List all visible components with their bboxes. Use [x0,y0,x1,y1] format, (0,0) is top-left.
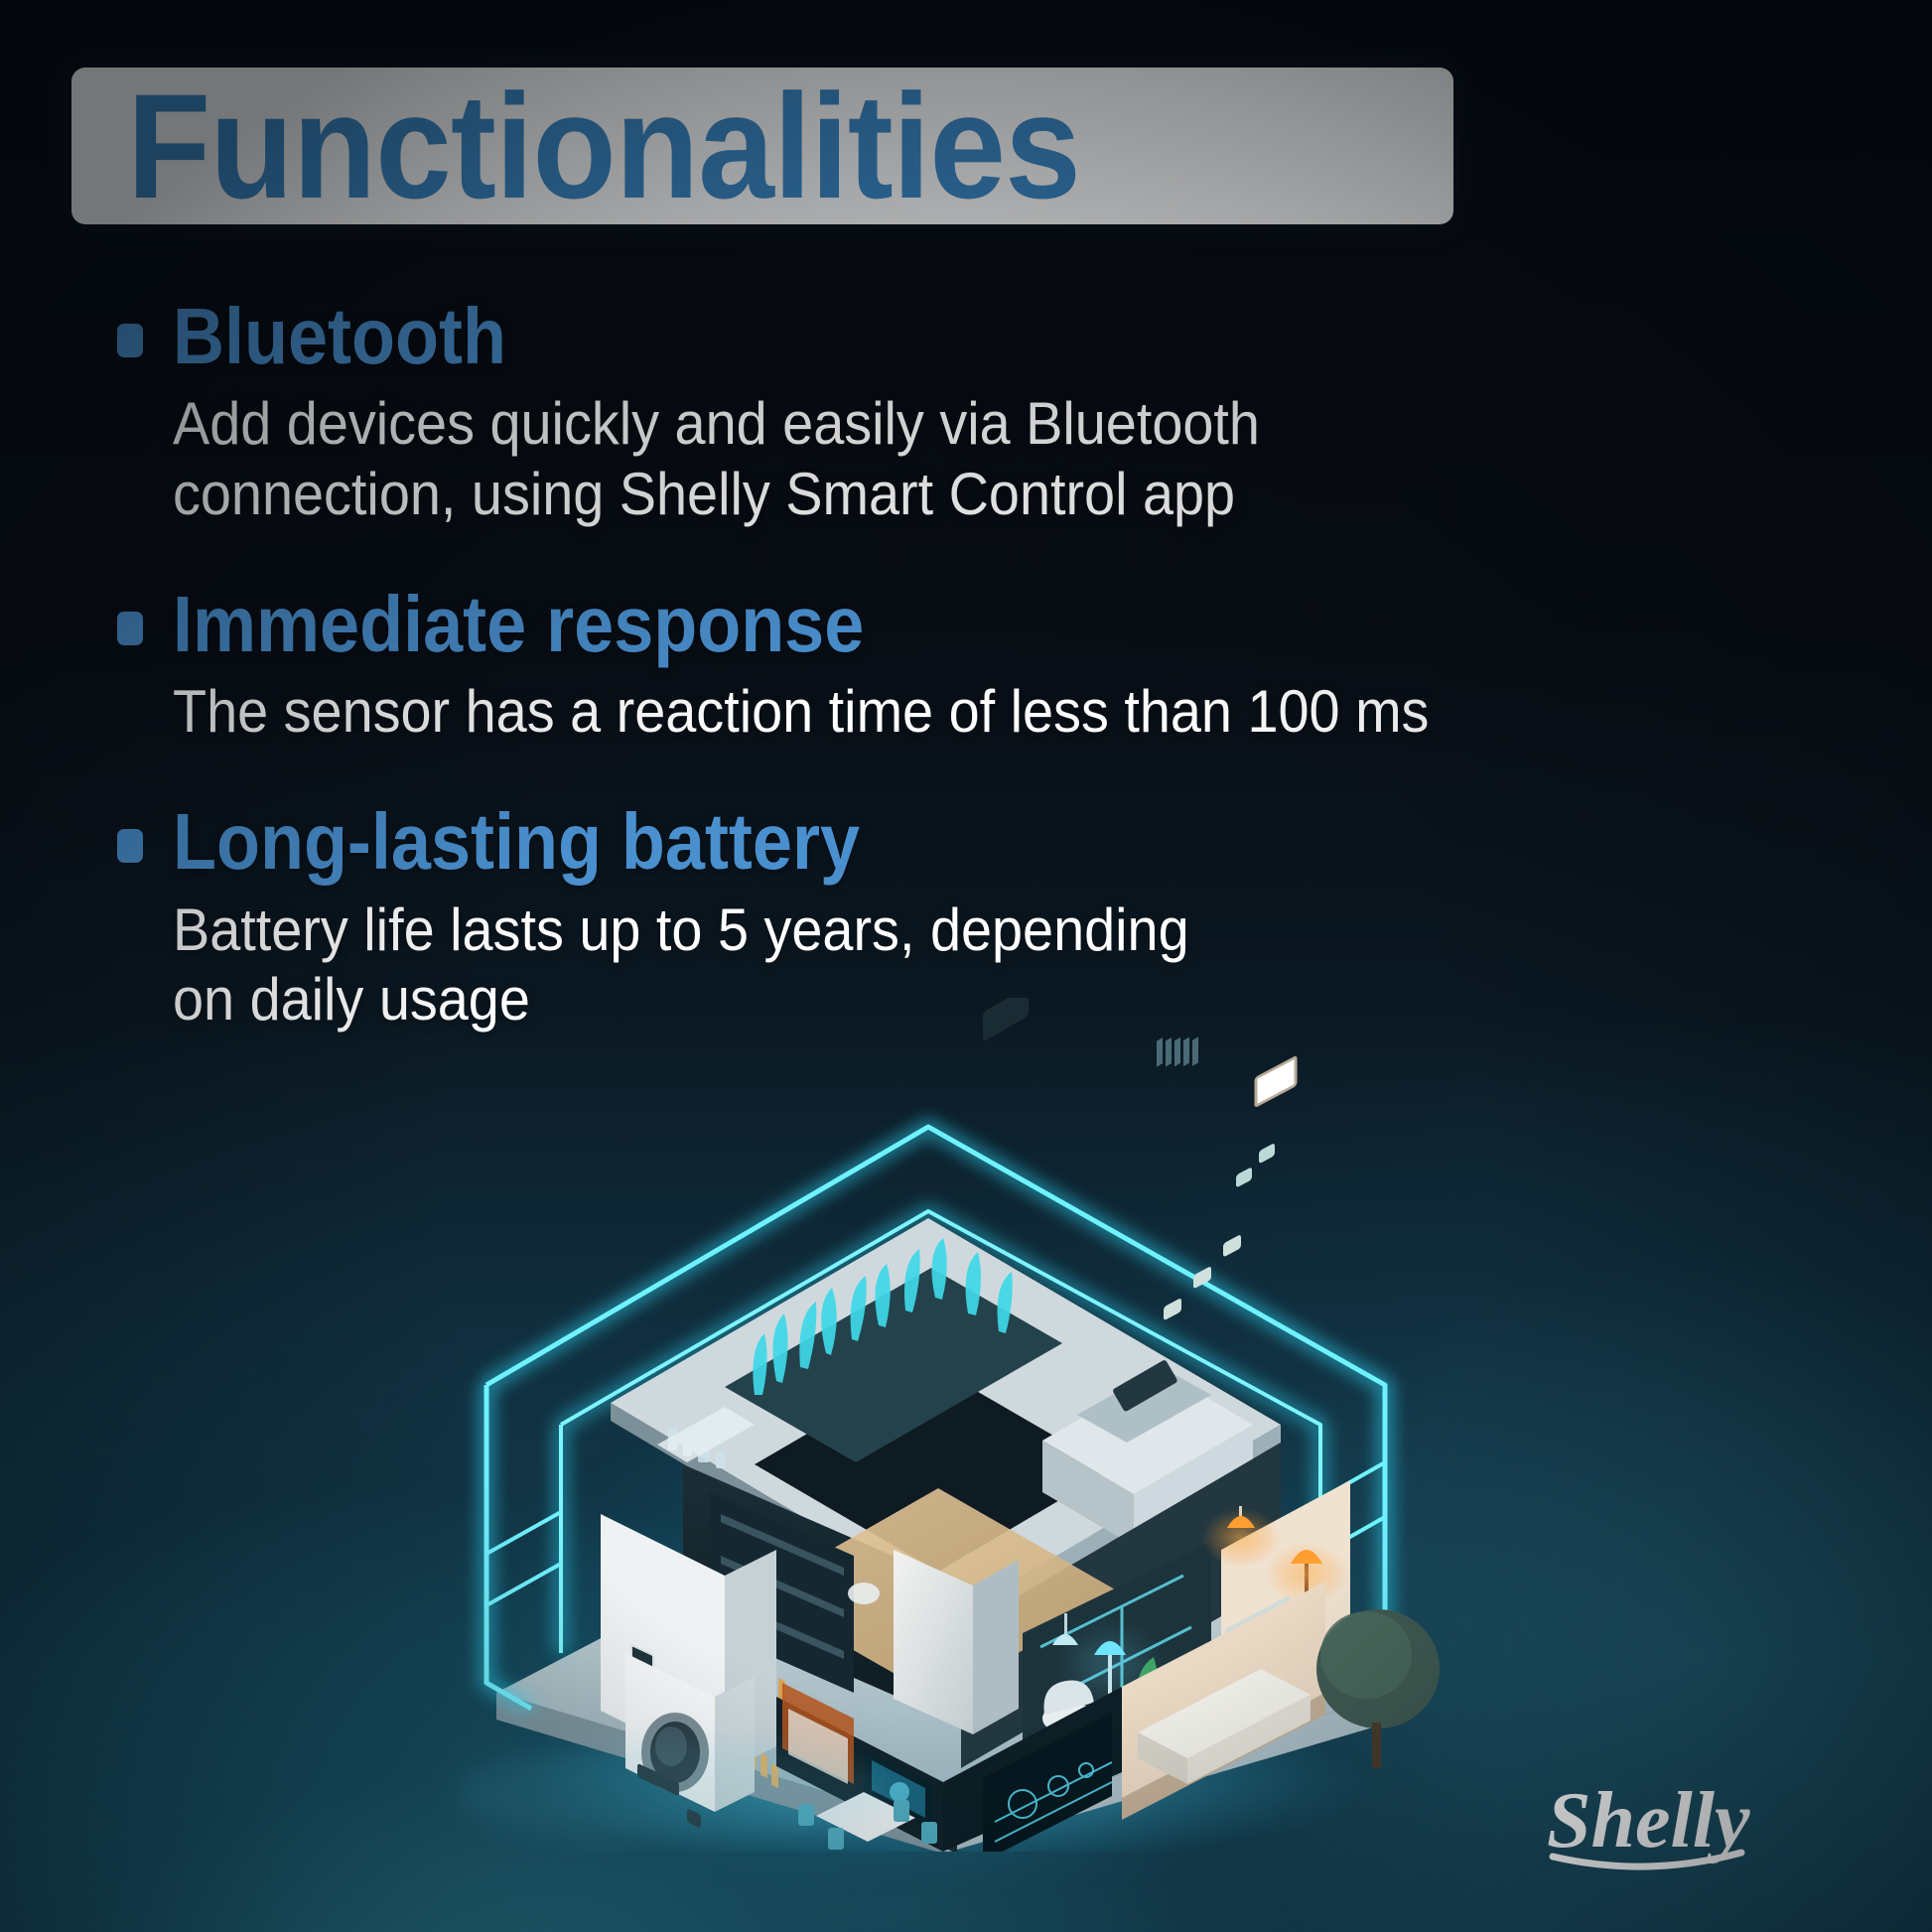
shelly-wordmark-svg: Shelly [1539,1761,1866,1880]
feature-body: The sensor has a reaction time of less t… [173,677,1613,748]
feature-heading-row: Long-lasting battery [117,803,1825,881]
feature-body-line: connection, using Shelly Smart Control a… [173,460,1613,530]
poster-canvas: Functionalities Bluetooth Add devices qu… [0,0,1932,1932]
feature-title: Immediate response [173,586,864,663]
shelly-wordmark-text: Shelly [1547,1777,1750,1864]
feature-body-line: The sensor has a reaction time of less t… [173,677,1613,748]
feature-title: Long-lasting battery [173,803,860,881]
title-card: Functionalities [71,68,1453,224]
feature-heading-row: Immediate response [117,586,1825,663]
feature-body-line: Add devices quickly and easily via Bluet… [173,389,1613,460]
feature-item-bluetooth: Bluetooth Add devices quickly and easily… [117,298,1825,530]
square-bullet-icon [117,324,143,357]
feature-heading-row: Bluetooth [117,298,1825,375]
feature-title: Bluetooth [173,298,506,375]
square-bullet-icon [117,612,143,645]
feature-item-immediate-response: Immediate response The sensor has a reac… [117,586,1825,748]
shelly-logo: Shelly [1539,1761,1866,1880]
smart-home-illustration [427,998,1489,1852]
page-title: Functionalities [127,71,1080,220]
feature-body: Add devices quickly and easily via Bluet… [173,389,1613,530]
topiary-tree [1316,1609,1440,1768]
house-svg [427,998,1489,1852]
feature-list: Bluetooth Add devices quickly and easily… [117,298,1825,1035]
base-glow [457,1742,894,1842]
feature-body-line: Battery life lasts up to 5 years, depend… [173,896,1613,966]
square-bullet-icon [117,829,143,863]
